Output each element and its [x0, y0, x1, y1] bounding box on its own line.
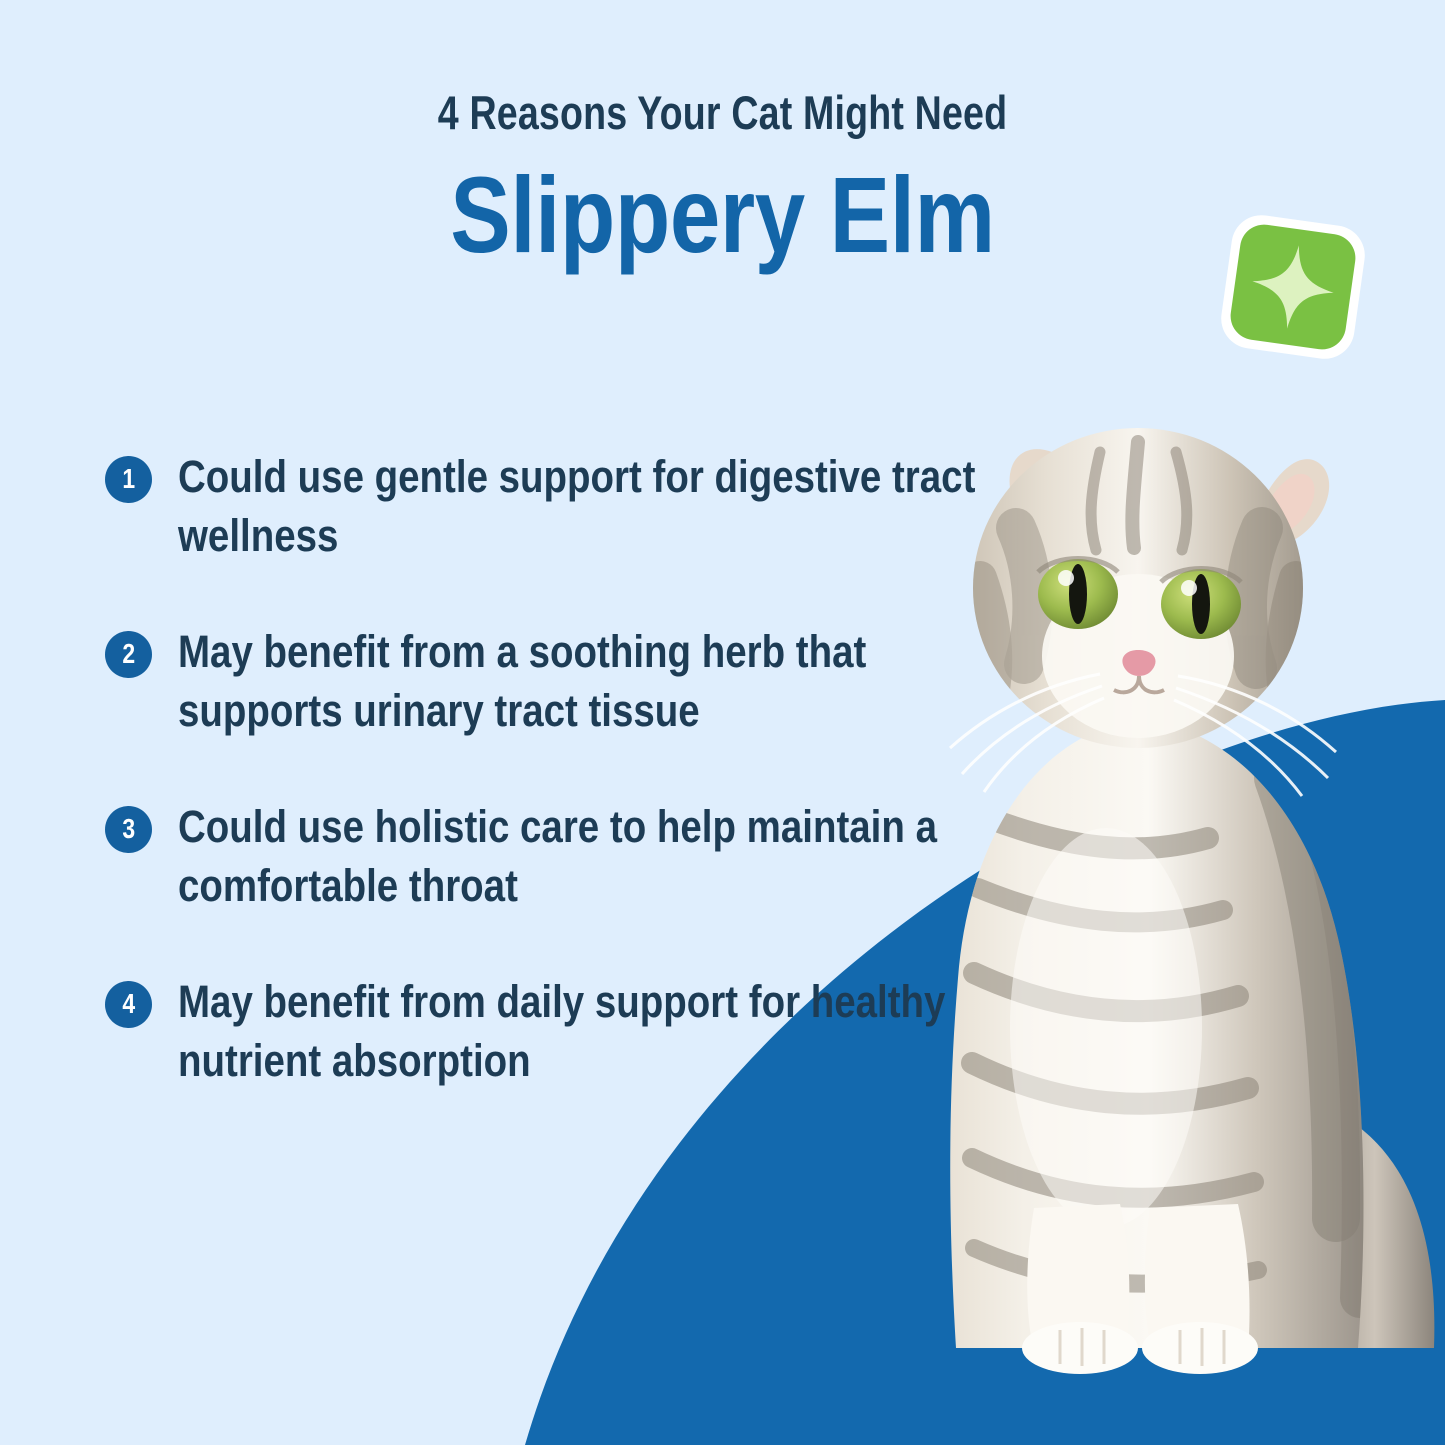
list-item: 2 May benefit from a soothing herb that …: [100, 623, 910, 798]
list-item-number-badge: 3: [105, 806, 152, 853]
list-item-text: Could use holistic care to help maintain…: [178, 798, 995, 915]
list-item-number-badge: 4: [105, 981, 152, 1028]
cat-photo: [838, 418, 1445, 1418]
reasons-list: 1 Could use gentle support for digestive…: [100, 448, 910, 1148]
list-item: 3 Could use holistic care to help mainta…: [100, 798, 910, 973]
cat-paw-left: [1022, 1322, 1138, 1374]
list-item-text: Could use gentle support for digestive t…: [178, 448, 995, 565]
eyebrow-text: 4 Reasons Your Cat Might Need: [145, 0, 1301, 137]
list-item: 4 May benefit from daily support for hea…: [100, 973, 910, 1148]
list-item-text: May benefit from daily support for healt…: [178, 973, 995, 1090]
cat-eye-right: [1161, 569, 1241, 640]
infographic-canvas: 4 Reasons Your Cat Might Need Slippery E…: [0, 0, 1445, 1445]
list-item-number-badge: 2: [105, 631, 152, 678]
cat-eye-left: [1038, 559, 1118, 630]
page-title: Slippery Elm: [116, 137, 1330, 269]
cat-chest: [1010, 828, 1202, 1228]
list-item-text: May benefit from a soothing herb that su…: [178, 623, 995, 740]
cat-paw-right: [1142, 1322, 1258, 1374]
list-item: 1 Could use gentle support for digestive…: [100, 448, 910, 623]
sparkle-badge: [1218, 212, 1368, 362]
list-item-number-badge: 1: [105, 456, 152, 503]
